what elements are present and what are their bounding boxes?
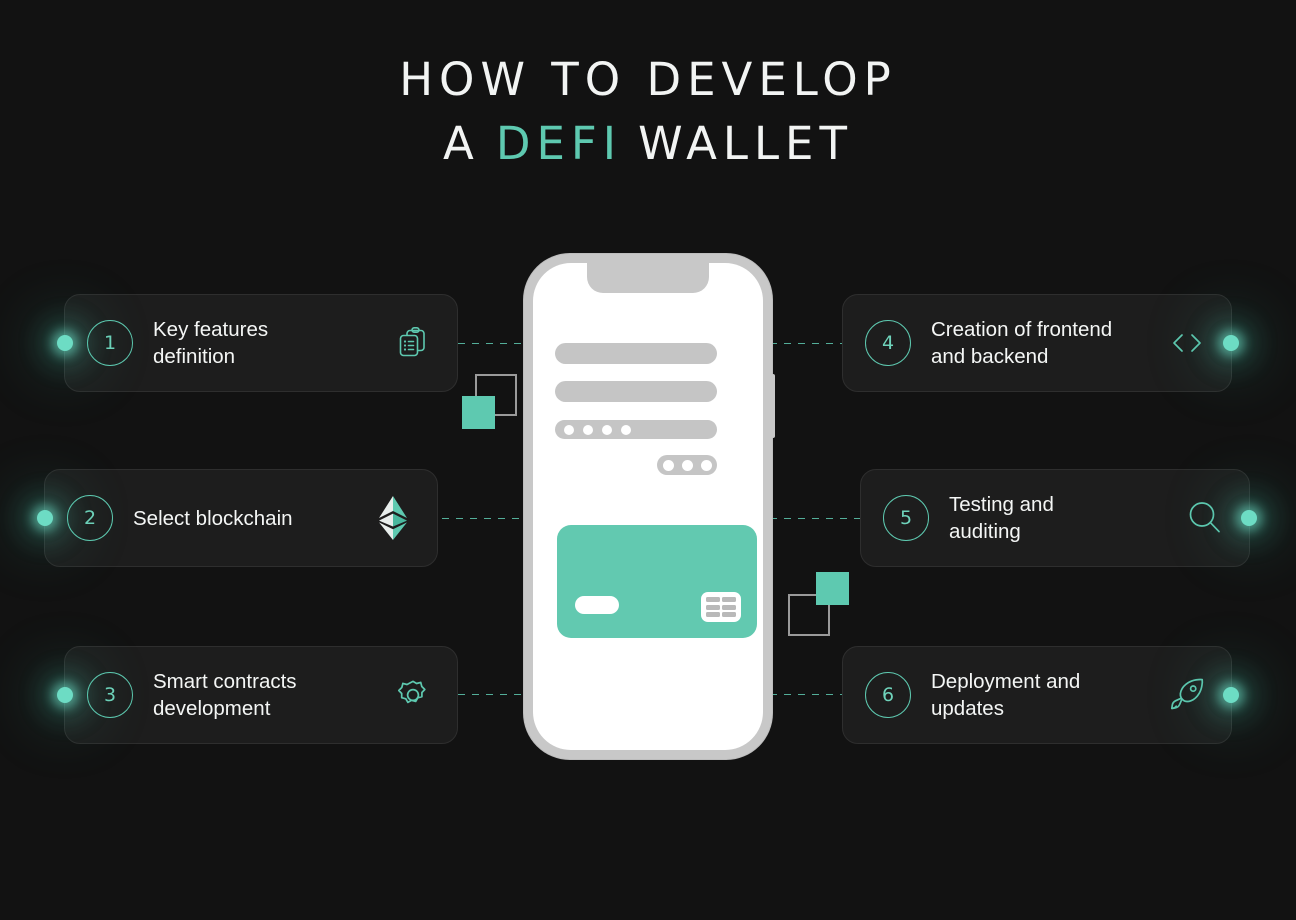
step-card-3[interactable]: 3 Smart contracts development xyxy=(64,646,458,744)
step-label-4: Creation of frontend and backend xyxy=(931,316,1155,370)
title-word-a: A xyxy=(443,117,480,170)
step-card-1[interactable]: 1 Key features definition xyxy=(64,294,458,392)
step-card-4[interactable]: 4 Creation of frontend and backend xyxy=(842,294,1232,392)
pin-dot xyxy=(564,425,574,435)
glow-dot-4 xyxy=(1223,335,1239,351)
title-word-defi: DEFI xyxy=(496,117,622,170)
step-card-5[interactable]: 5 Testing and auditing xyxy=(860,469,1250,567)
phone-notch xyxy=(587,263,709,293)
infographic-canvas: HOW TO DEVELOP ADEFIWALLET xyxy=(0,0,1296,920)
pill-dot xyxy=(682,460,693,471)
phone-screen xyxy=(533,263,763,750)
pin-dot xyxy=(602,425,612,435)
glow-dot-5 xyxy=(1241,510,1257,526)
phone-side-button[interactable] xyxy=(771,374,775,438)
connector-step-2 xyxy=(442,518,528,519)
wallet-pin-bar xyxy=(555,420,717,439)
wallet-card xyxy=(557,525,757,638)
phone-mockup xyxy=(524,254,772,759)
glow-dot-1 xyxy=(57,335,73,351)
pin-dot xyxy=(583,425,593,435)
step-label-3: Smart contracts development xyxy=(153,668,381,722)
step-number-5: 5 xyxy=(883,495,929,541)
decor-square-bottom xyxy=(788,572,858,638)
step-label-6: Deployment and updates xyxy=(931,668,1155,722)
connector-step-3 xyxy=(458,694,528,695)
glow-dot-2 xyxy=(37,510,53,526)
step-number-1: 1 xyxy=(87,320,133,366)
rocket-icon xyxy=(1165,673,1209,717)
wallet-input-bar-2 xyxy=(555,381,717,402)
connector-step-4 xyxy=(770,343,842,344)
wallet-pill-dots xyxy=(657,455,717,475)
step-label-1: Key features definition xyxy=(153,316,381,370)
connector-step-5 xyxy=(770,518,860,519)
decor-square-top xyxy=(462,374,532,434)
step-label-2: Select blockchain xyxy=(133,505,361,532)
gear-icon xyxy=(391,673,435,717)
step-label-5: Testing and auditing xyxy=(949,491,1173,545)
step-card-6[interactable]: 6 Deployment and updates xyxy=(842,646,1232,744)
step-card-2[interactable]: 2 Select blockchain xyxy=(44,469,438,567)
clipboard-list-icon xyxy=(391,321,435,365)
magnifier-icon xyxy=(1183,496,1227,540)
pill-dot xyxy=(701,460,712,471)
code-brackets-icon xyxy=(1165,321,1209,365)
step-number-6: 6 xyxy=(865,672,911,718)
glow-dot-3 xyxy=(57,687,73,703)
ethereum-icon xyxy=(371,496,415,540)
pill-dot xyxy=(663,460,674,471)
connector-step-1 xyxy=(458,343,528,344)
wallet-card-pill xyxy=(575,596,619,614)
step-number-2: 2 xyxy=(67,495,113,541)
connector-step-6 xyxy=(770,694,842,695)
glow-dot-6 xyxy=(1223,687,1239,703)
title-line-2: ADEFIWALLET xyxy=(0,112,1296,176)
title-line-1: HOW TO DEVELOP xyxy=(0,48,1296,112)
wallet-input-bar-1 xyxy=(555,343,717,364)
wallet-card-chip xyxy=(701,592,741,622)
page-title: HOW TO DEVELOP ADEFIWALLET xyxy=(0,48,1296,176)
pin-dot xyxy=(621,425,631,435)
step-number-3: 3 xyxy=(87,672,133,718)
step-number-4: 4 xyxy=(865,320,911,366)
title-word-wallet: WALLET xyxy=(638,117,853,170)
